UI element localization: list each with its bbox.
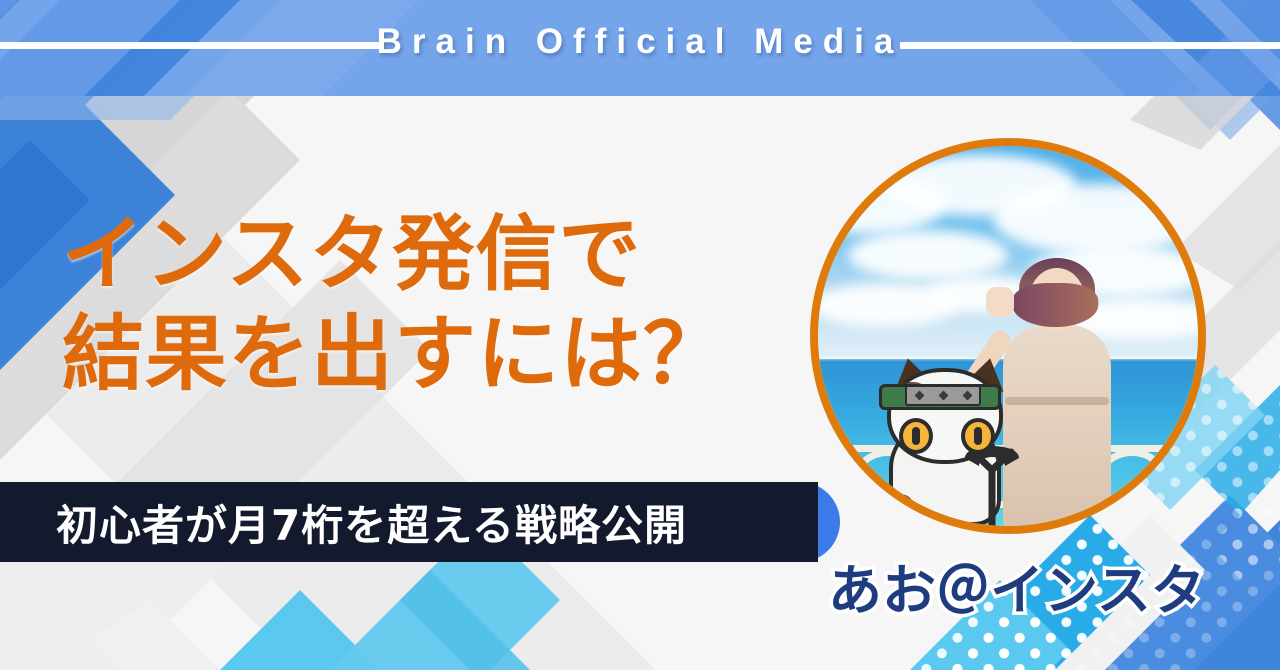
banner-canvas: Brain Official Media インスタ発信で 結果を出すには？ 初心… (0, 0, 1280, 670)
headband-rivet (938, 391, 948, 401)
cat-headband-plate (905, 385, 981, 406)
title-line-1: インスタ発信で (62, 205, 726, 305)
headband-rivet (962, 391, 972, 401)
profile-photo-circle (810, 138, 1206, 534)
subtitle-banner-text: 初心者が月7桁を超える戦略公開 (56, 492, 687, 553)
header-title: Brain Official Media (0, 22, 1280, 62)
account-handle: あお＠インスタ (828, 546, 1205, 625)
profile-photo (818, 146, 1198, 526)
main-title: インスタ発信で 結果を出すには？ (62, 205, 726, 405)
header-band: Brain Official Media (0, 0, 1280, 96)
cat-mascot (871, 356, 1021, 526)
headband-rivet (914, 391, 924, 401)
cat-fur-patch (879, 494, 913, 520)
title-line-2: 結果を出すには？ (62, 305, 726, 405)
subtitle-banner: 初心者が月7桁を超える戦略公開 (0, 482, 818, 562)
cat-eye-left (899, 418, 933, 454)
cat-pupil (974, 427, 982, 445)
cat-eye-right (961, 418, 995, 454)
cat-pupil (912, 427, 920, 445)
woman-hair-side (1013, 283, 1099, 327)
woman-hand-peace (986, 287, 1014, 317)
